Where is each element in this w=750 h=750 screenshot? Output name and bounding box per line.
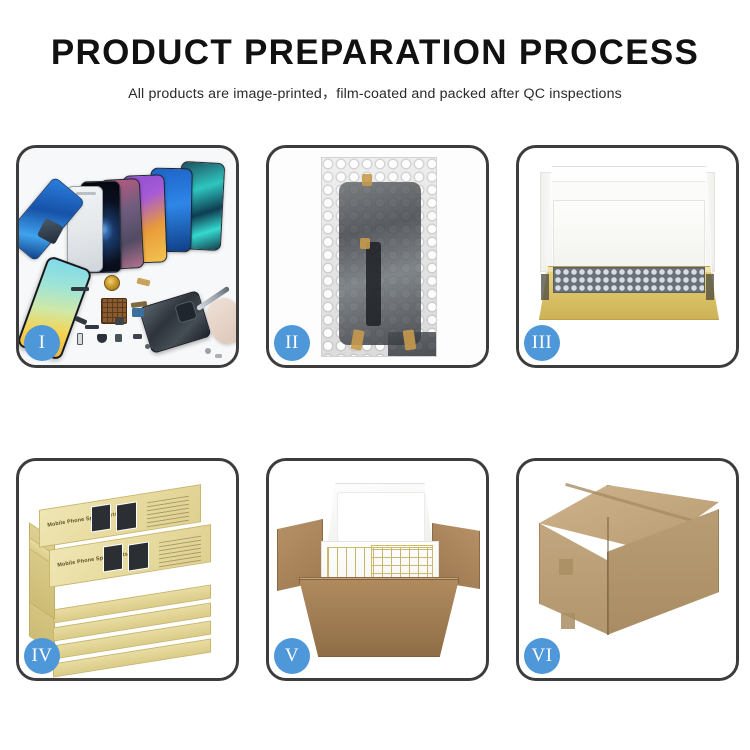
carton-tape-icon (559, 559, 573, 575)
amber-tape-icon (362, 174, 372, 186)
amber-tape-icon (360, 238, 370, 249)
step-panel-2[interactable]: II (266, 145, 489, 368)
mailer-corner-icon (706, 274, 714, 300)
spare-part-icon (77, 333, 83, 345)
spare-part-icon (205, 348, 211, 354)
spare-part-icon (133, 334, 142, 339)
flex-cable-icon (366, 242, 381, 326)
process-step-grid: I II (16, 145, 740, 681)
bubble-wrap-bag-icon (321, 157, 437, 357)
step-panel-6[interactable]: VI (516, 458, 739, 681)
step-badge-6: VI (524, 638, 560, 674)
copper-coil-icon (104, 275, 120, 291)
bubble-wrapped-item-icon (553, 267, 705, 293)
header: PRODUCT PREPARATION PROCESS All products… (0, 34, 750, 103)
product-preparation-infographic: PRODUCT PREPARATION PROCESS All products… (0, 0, 750, 750)
step-badge-5: V (274, 638, 310, 674)
yellow-box-stack-icon: Mobile Phone Spare Parts Mobile Phone Sp… (25, 485, 236, 665)
step-badge-2: II (274, 325, 310, 361)
spare-part-icon (71, 287, 89, 291)
step-panel-3[interactable]: III (516, 145, 739, 368)
amber-tape-icon (350, 329, 364, 351)
mailer-corner-icon (541, 274, 549, 300)
step-panel-1[interactable]: I (16, 145, 239, 368)
step-badge-1: I (24, 325, 60, 361)
spare-part-icon (85, 325, 99, 329)
step-badge-3: III (524, 325, 560, 361)
spare-part-icon (215, 354, 222, 358)
spare-part-icon (132, 308, 144, 317)
spare-part-icon (115, 318, 124, 325)
carton-vertical-edge-icon (607, 517, 609, 635)
foam-lining-icon (553, 200, 705, 276)
step-badge-4: IV (24, 638, 60, 674)
page-subtitle: All products are image-printed，film-coat… (0, 83, 750, 103)
spare-part-icon (115, 334, 122, 342)
carton-tape-icon (561, 613, 575, 629)
foam-lid-icon (327, 483, 433, 547)
step-panel-5[interactable]: V (266, 458, 489, 681)
spare-part-icon (145, 344, 150, 349)
step-panel-4[interactable]: Mobile Phone Spare Parts Mobile Phone Sp… (16, 458, 239, 681)
carton-body-icon (299, 579, 459, 657)
page-title: PRODUCT PREPARATION PROCESS (0, 34, 750, 72)
